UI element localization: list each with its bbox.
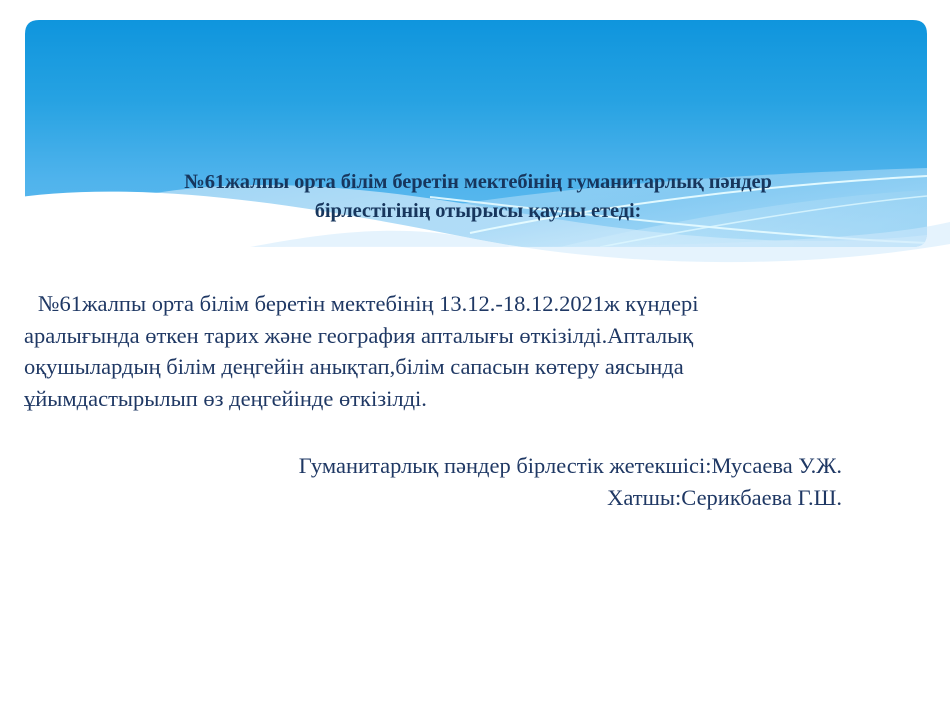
decorative-wave-banner [0, 0, 950, 285]
body-line-1: №61жалпы орта білім беретін мектебінің 1… [24, 288, 908, 320]
title-line-1: №61жалпы орта білім беретін мектебінің г… [60, 168, 896, 197]
body-line-3: оқушылардың білім деңгейін анықтап,білім… [24, 351, 908, 383]
signature-block: Гуманитарлық пәндер бірлестік жетекшісі:… [24, 450, 842, 513]
body-paragraph: №61жалпы орта білім беретін мектебінің 1… [24, 288, 908, 414]
wave-spill [250, 222, 950, 262]
title-line-2: бірлестігінің отырысы қаулы етеді: [60, 197, 896, 226]
banner-artwork [0, 0, 950, 285]
signature-line-leader: Гуманитарлық пәндер бірлестік жетекшісі:… [24, 450, 842, 482]
slide-title: №61жалпы орта білім беретін мектебінің г… [60, 168, 896, 226]
signature-line-secretary: Хатшы:Серикбаева Г.Ш. [24, 482, 842, 514]
presentation-slide: №61жалпы орта білім беретін мектебінің г… [0, 0, 950, 713]
body-line-2: аралығында өткен тарих және география ап… [24, 320, 908, 352]
body-line-4: ұйымдастырылып өз деңгейінде өткізілді. [24, 383, 908, 415]
